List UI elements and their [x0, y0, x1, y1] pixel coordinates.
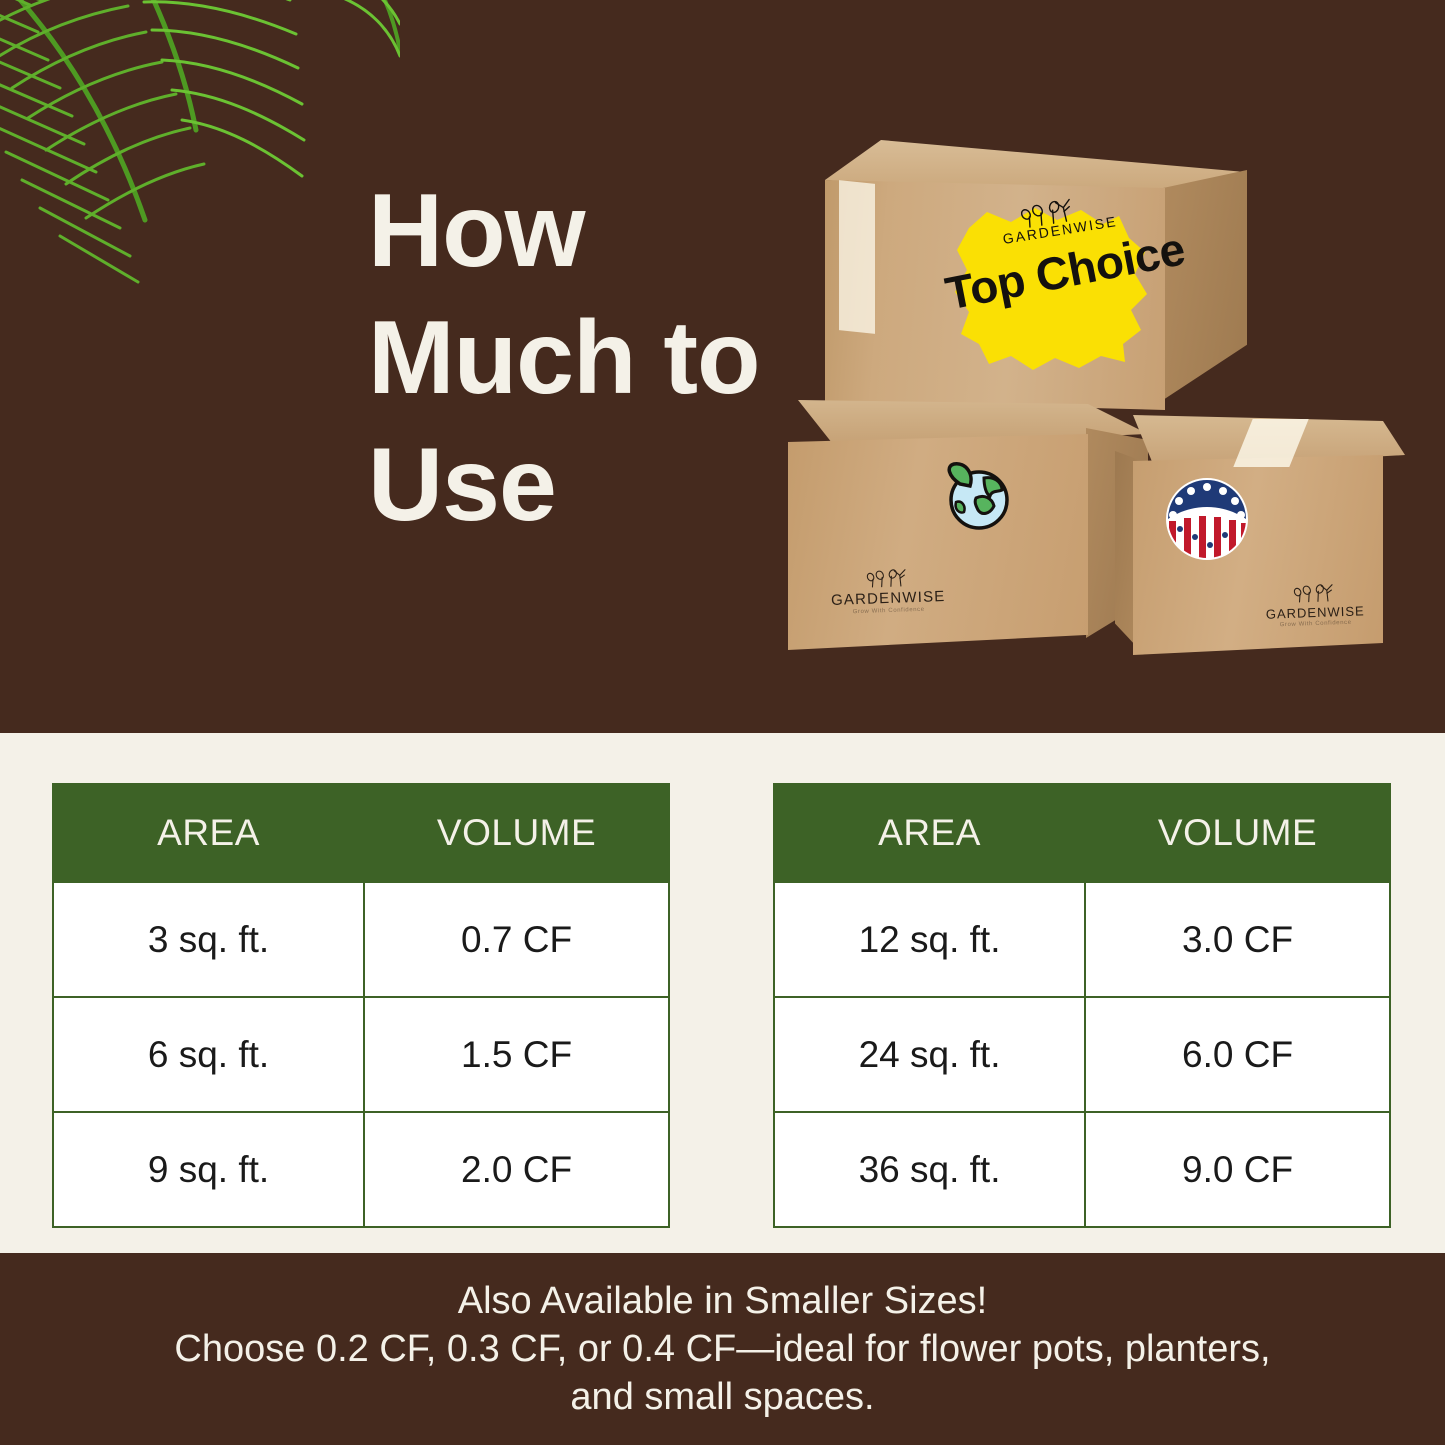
palm-leaf-icon — [0, 0, 400, 360]
sprout-icon — [865, 567, 910, 589]
cell-volume: 3.0 CF — [1085, 882, 1390, 997]
coverage-tables-section: AREA VOLUME 3 sq. ft. 0.7 CF 6 sq. ft. 1… — [0, 733, 1445, 1253]
footer-detail-line-1: Choose 0.2 CF, 0.3 CF, or 0.4 CF—ideal f… — [58, 1325, 1388, 1373]
column-header-area: AREA — [774, 784, 1085, 882]
sprout-icon — [1292, 582, 1337, 604]
infographic-page: How Much to Use — [0, 0, 1445, 1445]
column-header-volume: VOLUME — [1085, 784, 1390, 882]
cell-area: 24 sq. ft. — [774, 997, 1085, 1112]
hero-banner: How Much to Use — [0, 0, 1445, 733]
table-row: 6 sq. ft. 1.5 CF — [53, 997, 669, 1112]
cell-volume: 9.0 CF — [1085, 1112, 1390, 1227]
right-box: GARDENWISE Grow With Confidence — [1115, 415, 1405, 660]
cell-area: 9 sq. ft. — [53, 1112, 364, 1227]
cell-volume: 1.5 CF — [364, 997, 669, 1112]
packing-tape — [839, 180, 875, 334]
brand-logo: GARDENWISE Grow With Confidence — [1254, 581, 1375, 629]
cell-volume: 2.0 CF — [364, 1112, 669, 1227]
column-header-volume: VOLUME — [364, 784, 669, 882]
table-header-row: AREA VOLUME — [53, 784, 669, 882]
cell-area: 12 sq. ft. — [774, 882, 1085, 997]
top-box: GARDENWISE Top Choice — [825, 140, 1245, 410]
table-row: 36 sq. ft. 9.0 CF — [774, 1112, 1390, 1227]
column-header-area: AREA — [53, 784, 364, 882]
coverage-table-large: AREA VOLUME 12 sq. ft. 3.0 CF 24 sq. ft.… — [773, 783, 1391, 1228]
usa-flag-icon — [1165, 477, 1249, 561]
cell-volume: 0.7 CF — [364, 882, 669, 997]
page-title: How Much to Use — [368, 168, 768, 549]
coverage-table-small: AREA VOLUME 3 sq. ft. 0.7 CF 6 sq. ft. 1… — [52, 783, 670, 1228]
footer-detail-line-2: and small spaces. — [58, 1373, 1388, 1421]
cell-area: 6 sq. ft. — [53, 997, 364, 1112]
middle-box: GARDENWISE Grow With Confidence — [788, 400, 1148, 660]
table-row: 12 sq. ft. 3.0 CF — [774, 882, 1390, 997]
table-row: 9 sq. ft. 2.0 CF — [53, 1112, 669, 1227]
cell-area: 36 sq. ft. — [774, 1112, 1085, 1227]
eco-globe-icon — [940, 462, 1012, 534]
brand-logo: GARDENWISE Grow With Confidence — [817, 566, 959, 617]
footer-banner: Also Available in Smaller Sizes! Choose … — [0, 1253, 1445, 1445]
cell-area: 3 sq. ft. — [53, 882, 364, 997]
product-box-stack: GARDENWISE Top Choice — [770, 120, 1410, 680]
footer-headline: Also Available in Smaller Sizes! — [58, 1277, 1388, 1325]
box-side-face — [1163, 170, 1247, 400]
table-row: 3 sq. ft. 0.7 CF — [53, 882, 669, 997]
table-header-row: AREA VOLUME — [774, 784, 1390, 882]
box-front-face — [788, 434, 1088, 650]
table-row: 24 sq. ft. 6.0 CF — [774, 997, 1390, 1112]
cell-volume: 6.0 CF — [1085, 997, 1390, 1112]
